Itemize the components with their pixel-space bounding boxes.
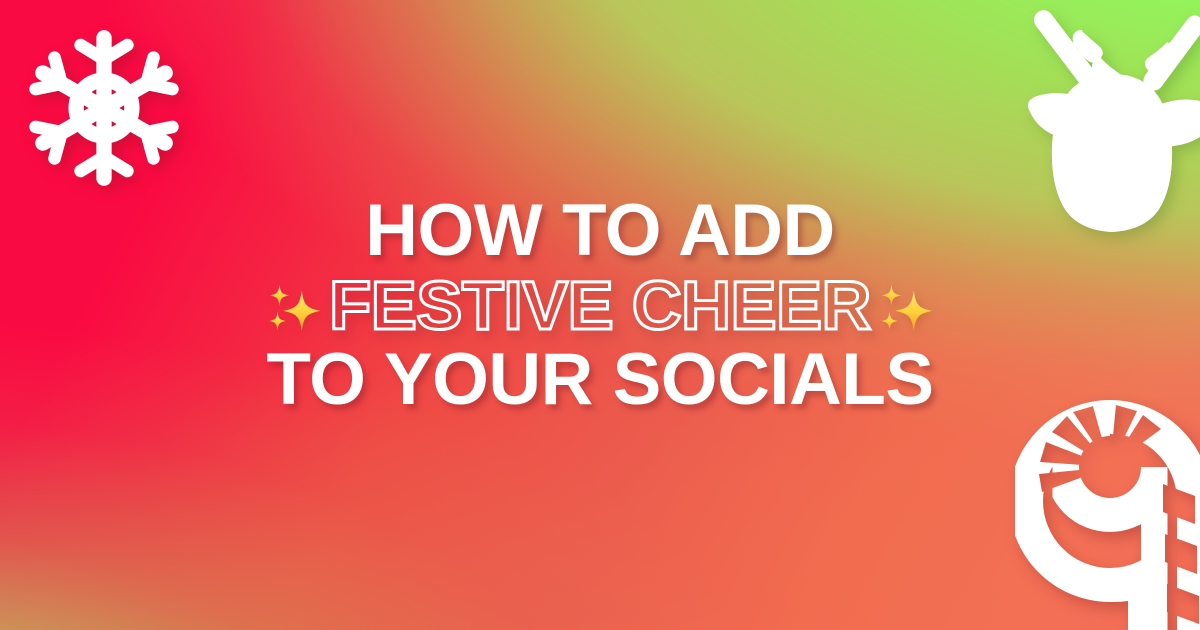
festive-social-graphic: HOW TO ADD FESTIVE CHEER bbox=[0, 0, 1200, 630]
headline-block: HOW TO ADD FESTIVE CHEER bbox=[0, 196, 1200, 415]
headline-line-2: FESTIVE CHEER bbox=[329, 273, 871, 339]
sparkles-icon bbox=[263, 275, 325, 337]
candy-cane-icon bbox=[1015, 392, 1200, 630]
headline-line-2-row: FESTIVE CHEER bbox=[0, 273, 1200, 339]
snowflake-icon bbox=[14, 18, 194, 198]
sparkles-icon bbox=[875, 275, 937, 337]
headline-line-3: TO YOUR SOCIALS bbox=[0, 345, 1200, 415]
headline-line-1: HOW TO ADD bbox=[0, 196, 1200, 266]
